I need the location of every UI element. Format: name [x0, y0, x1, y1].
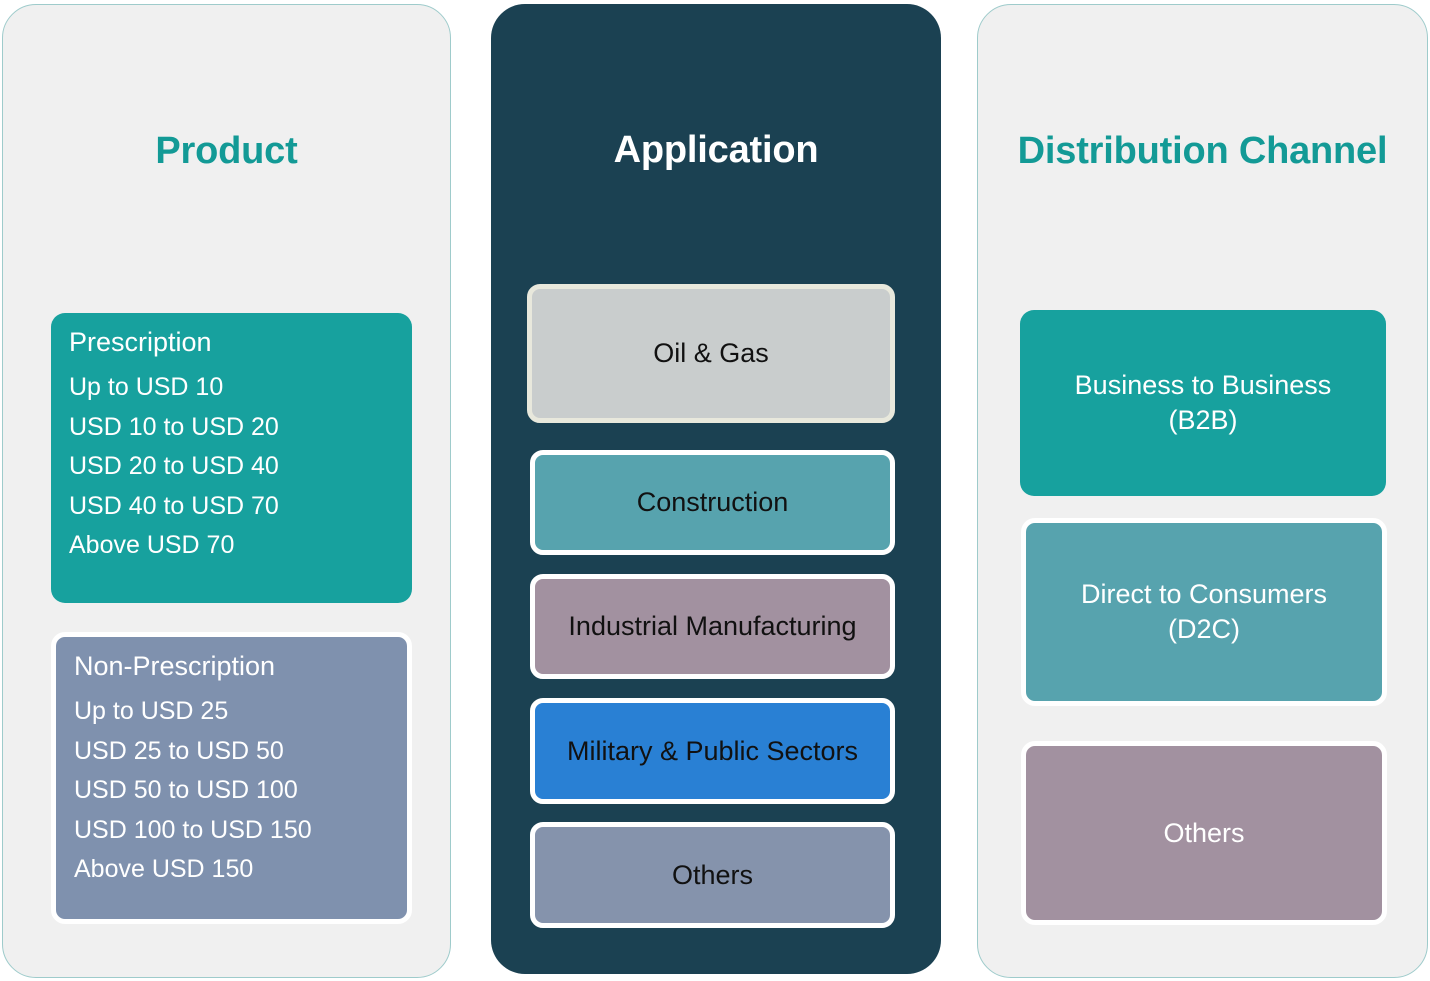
product-panel-title: Product — [3, 130, 450, 173]
application-card-label: Others — [672, 859, 753, 891]
application-card-construction[interactable]: Construction — [530, 450, 895, 555]
prescription-card-title: Prescription — [69, 327, 394, 358]
distribution-card-label: Direct to Consumers(D2C) — [1081, 577, 1327, 646]
distribution-card-label: Others — [1163, 816, 1244, 851]
non-prescription-item: USD 100 to USD 150 — [74, 811, 389, 851]
prescription-item: USD 40 to USD 70 — [69, 487, 394, 527]
distribution-channel-panel-title: Distribution Channel — [978, 130, 1427, 173]
distribution-card-label: Business to Business(B2B) — [1075, 368, 1332, 437]
prescription-item: USD 20 to USD 40 — [69, 447, 394, 487]
application-card-oil-and-gas[interactable]: Oil & Gas — [527, 284, 895, 423]
prescription-item: Above USD 70 — [69, 526, 394, 566]
non-prescription-item: USD 25 to USD 50 — [74, 732, 389, 772]
application-card-label: Oil & Gas — [653, 337, 769, 369]
application-card-label: Military & Public Sectors — [567, 735, 858, 767]
segmentation-diagram: Product Prescription Up to USD 10 USD 10… — [0, 0, 1430, 981]
application-card-label: Construction — [637, 486, 789, 518]
prescription-item: USD 10 to USD 20 — [69, 408, 394, 448]
distribution-card-others[interactable]: Others — [1021, 741, 1387, 925]
distribution-card-business-to-business[interactable]: Business to Business(B2B) — [1020, 310, 1386, 496]
application-card-label: Industrial Manufacturing — [568, 610, 856, 642]
non-prescription-item: Above USD 150 — [74, 850, 389, 890]
prescription-item: Up to USD 10 — [69, 368, 394, 408]
application-card-industrial-manufacturing[interactable]: Industrial Manufacturing — [530, 574, 895, 679]
application-card-others[interactable]: Others — [530, 822, 895, 928]
prescription-card[interactable]: Prescription Up to USD 10 USD 10 to USD … — [51, 313, 412, 603]
application-card-military-and-public-sectors[interactable]: Military & Public Sectors — [530, 698, 895, 804]
application-panel-title: Application — [491, 129, 941, 172]
non-prescription-item: Up to USD 25 — [74, 692, 389, 732]
non-prescription-card-title: Non-Prescription — [74, 651, 389, 682]
distribution-card-direct-to-consumers[interactable]: Direct to Consumers(D2C) — [1021, 518, 1387, 706]
non-prescription-card[interactable]: Non-Prescription Up to USD 25 USD 25 to … — [51, 632, 412, 924]
non-prescription-item: USD 50 to USD 100 — [74, 771, 389, 811]
